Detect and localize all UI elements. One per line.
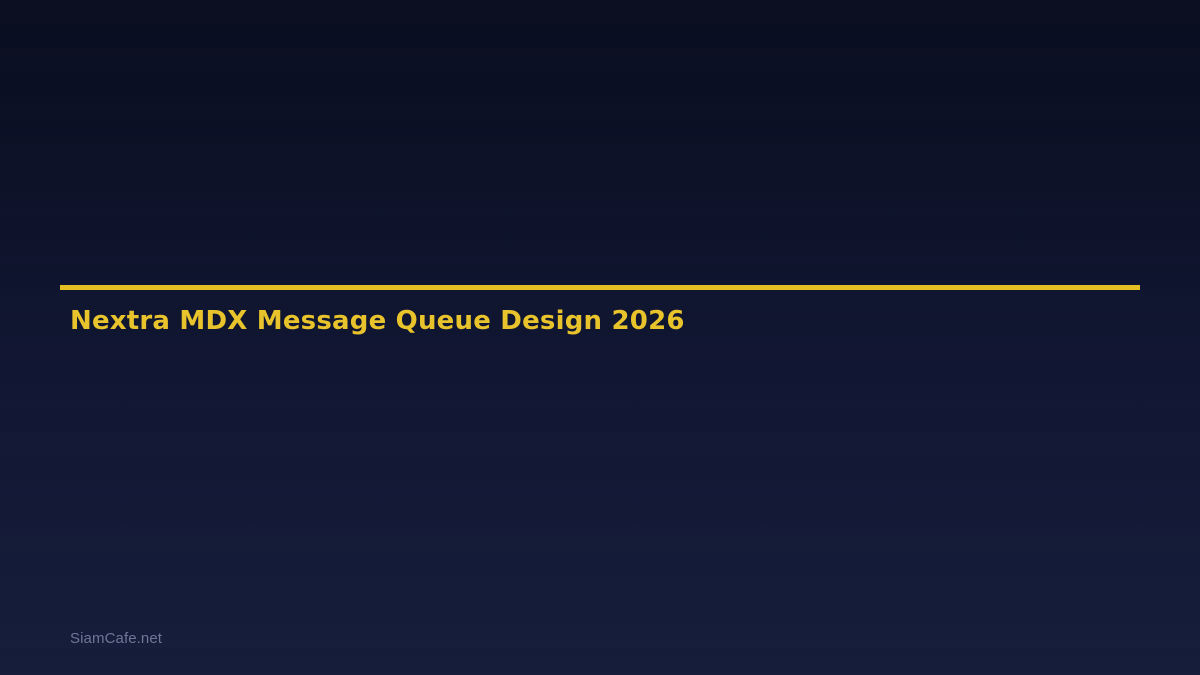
title-block: Nextra MDX Message Queue Design 2026 <box>60 285 1140 337</box>
slide-canvas: Nextra MDX Message Queue Design 2026 Sia… <box>0 0 1200 675</box>
footer-site-label: SiamCafe.net <box>70 630 162 647</box>
page-title: Nextra MDX Message Queue Design 2026 <box>60 290 1140 337</box>
